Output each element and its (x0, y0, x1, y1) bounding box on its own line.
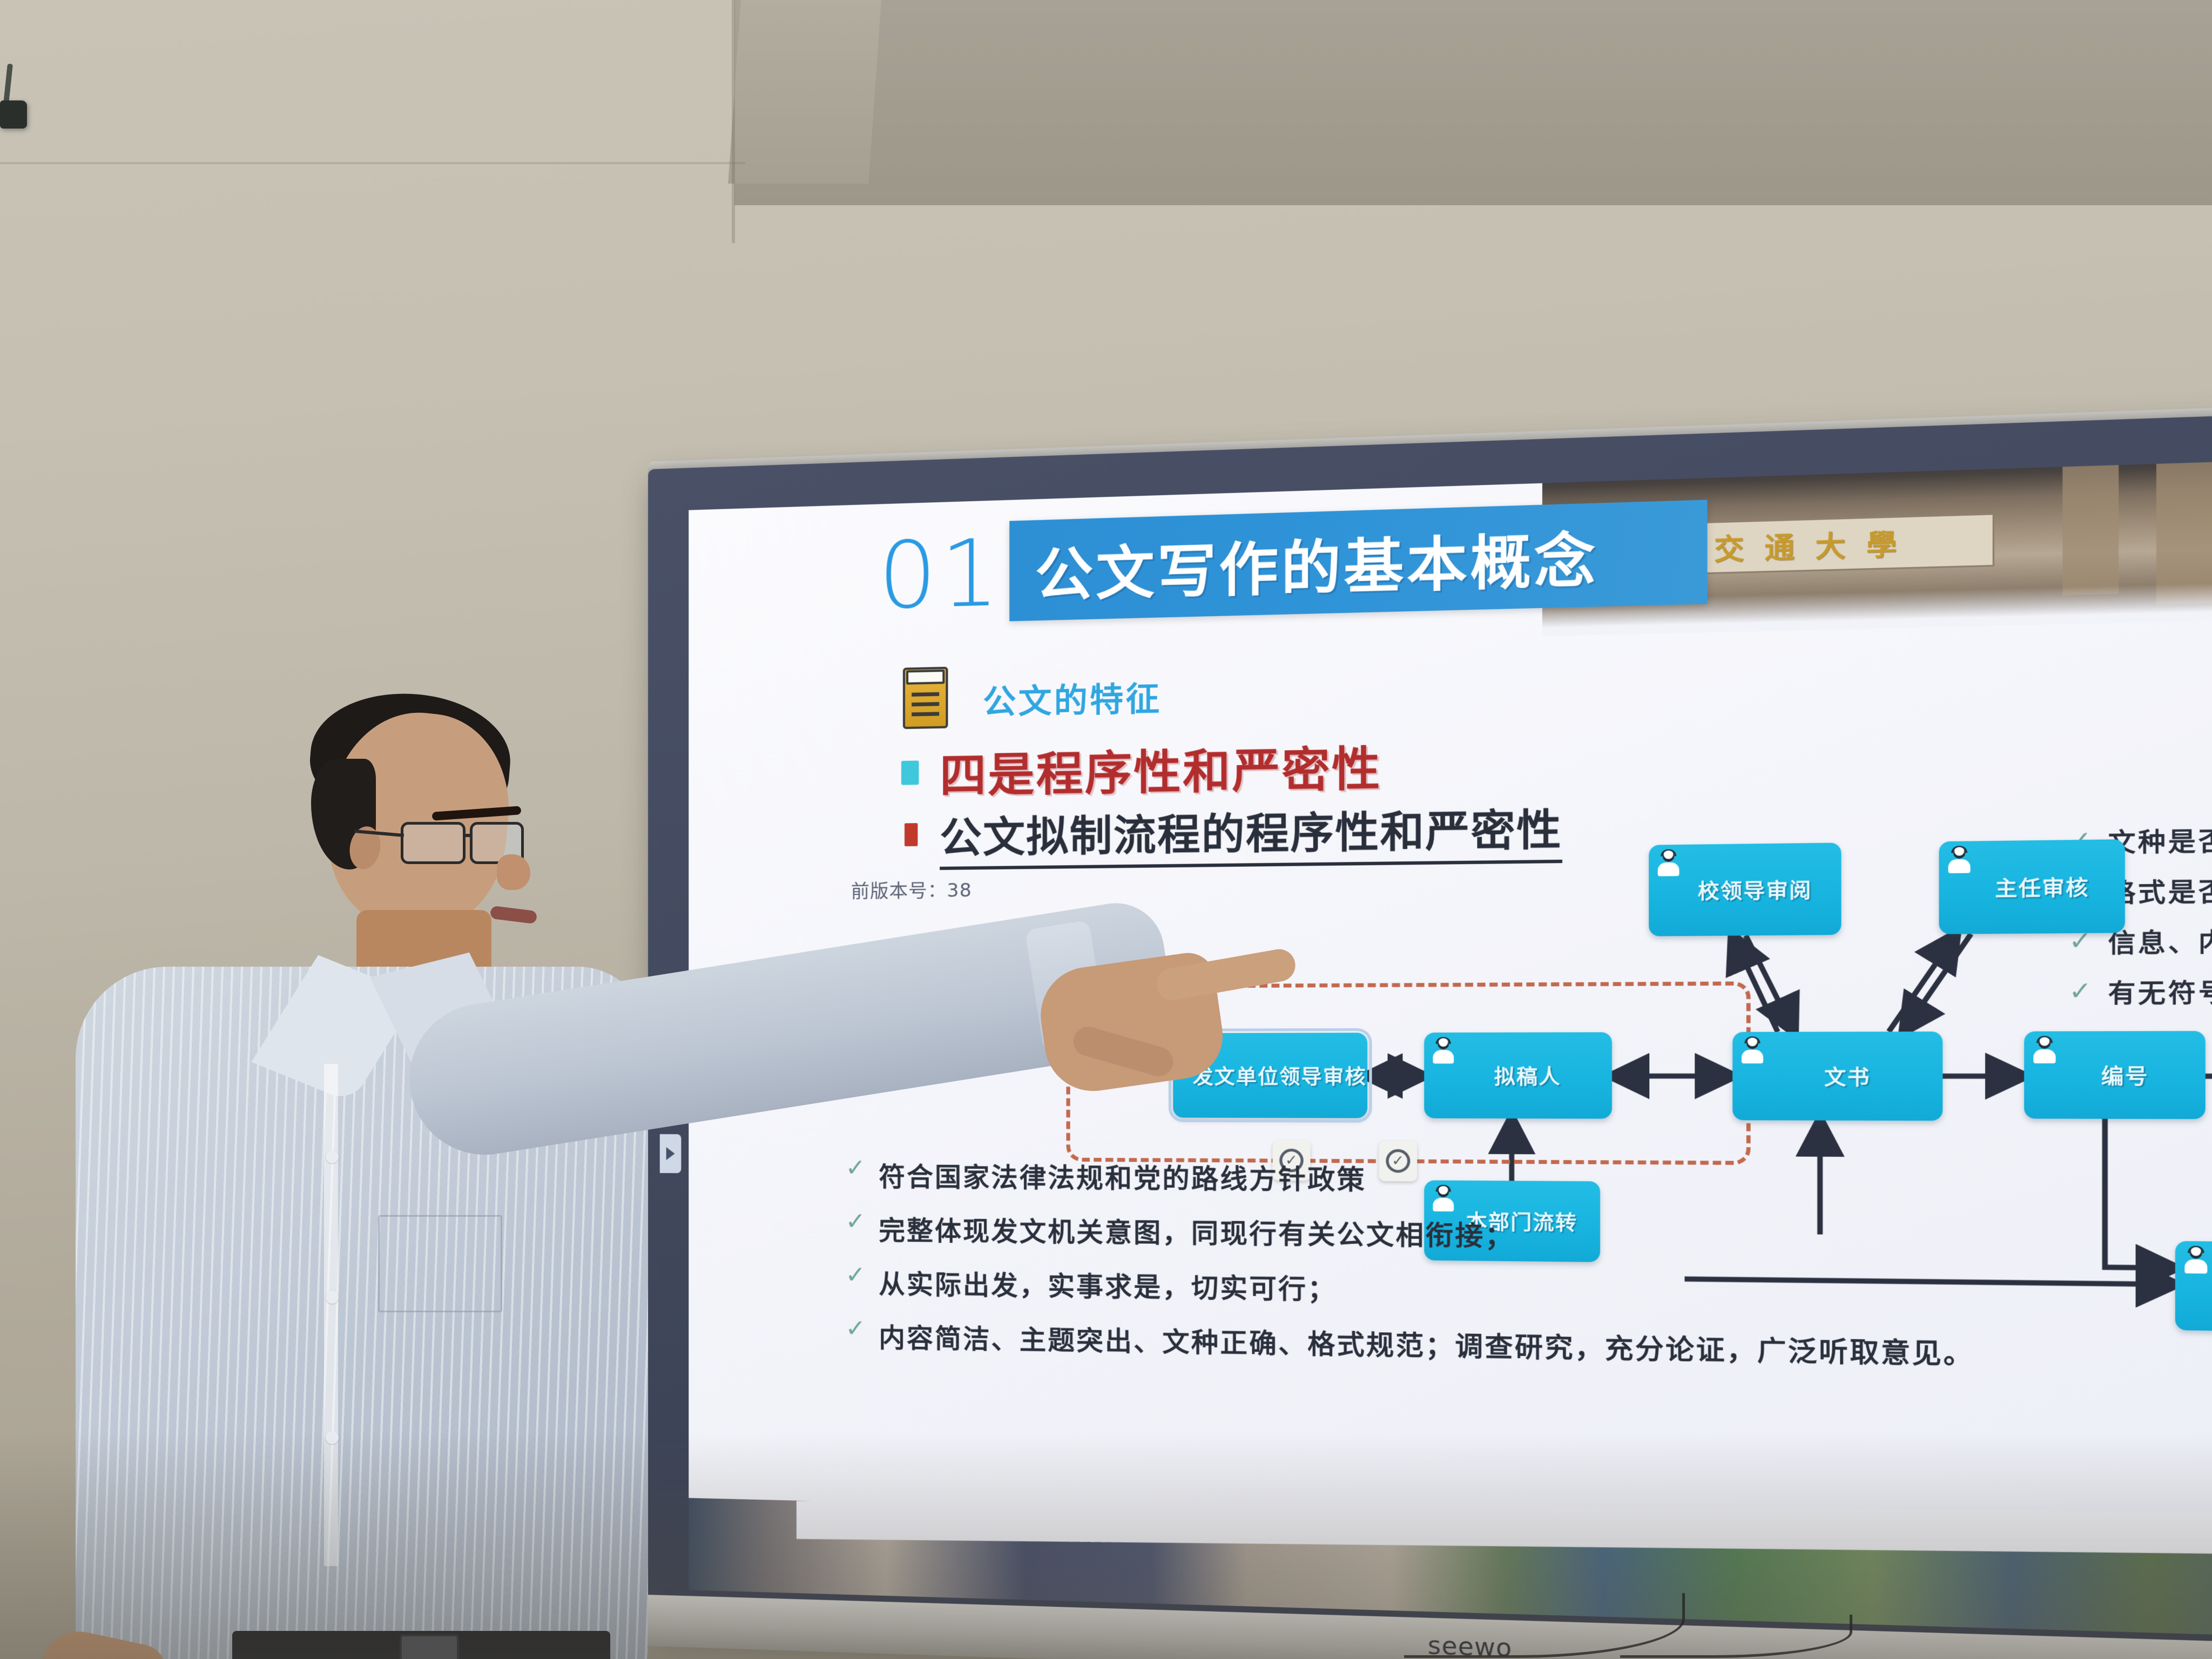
presenter-shirt-pocket (378, 1215, 502, 1312)
flow-node-label: 文印秘书 (2205, 1271, 2212, 1303)
floor-shadow (0, 1432, 2212, 1659)
flow-node-label: 文书 (1804, 1061, 1871, 1091)
ceiling-camera-icon (0, 64, 31, 129)
room-scene: seewo 交 通 大 學 0 (0, 0, 2212, 1659)
flow-node-drafter[interactable]: 拟稿人 (1424, 1032, 1612, 1118)
person-icon (2031, 1036, 2059, 1064)
flow-node-label: 编号 (2080, 1060, 2149, 1090)
flow-node-director-review[interactable]: 主任审核 (1939, 839, 2125, 934)
wall-corner-panel (728, 0, 881, 184)
presenter-nose (497, 854, 530, 890)
wall-seam (0, 162, 745, 164)
shirt-button (326, 1291, 339, 1304)
presenter-mouth (490, 906, 537, 924)
flow-node-label: 主任审核 (1974, 871, 2089, 902)
flow-node-printing-secretary[interactable]: 文印秘书 (2175, 1241, 2212, 1333)
flow-node-school-leader-review[interactable]: 校领导审阅 (1649, 842, 1841, 936)
person-icon (1738, 1036, 1766, 1064)
flow-node-label: 校领导审阅 (1677, 874, 1812, 906)
wall-vertical-edge (732, 0, 735, 243)
person-icon (1430, 1037, 1457, 1064)
flow-node-label: 拟稿人 (1474, 1061, 1561, 1090)
person-icon (2181, 1246, 2210, 1274)
shirt-button (326, 1150, 339, 1163)
wall-upper-band (734, 0, 2212, 205)
person-icon (1945, 846, 1973, 874)
person-icon (1655, 849, 1682, 876)
flow-node-secretary[interactable]: 文书 (1732, 1031, 1943, 1121)
flow-node-numbering[interactable]: 编号 (2024, 1031, 2206, 1119)
